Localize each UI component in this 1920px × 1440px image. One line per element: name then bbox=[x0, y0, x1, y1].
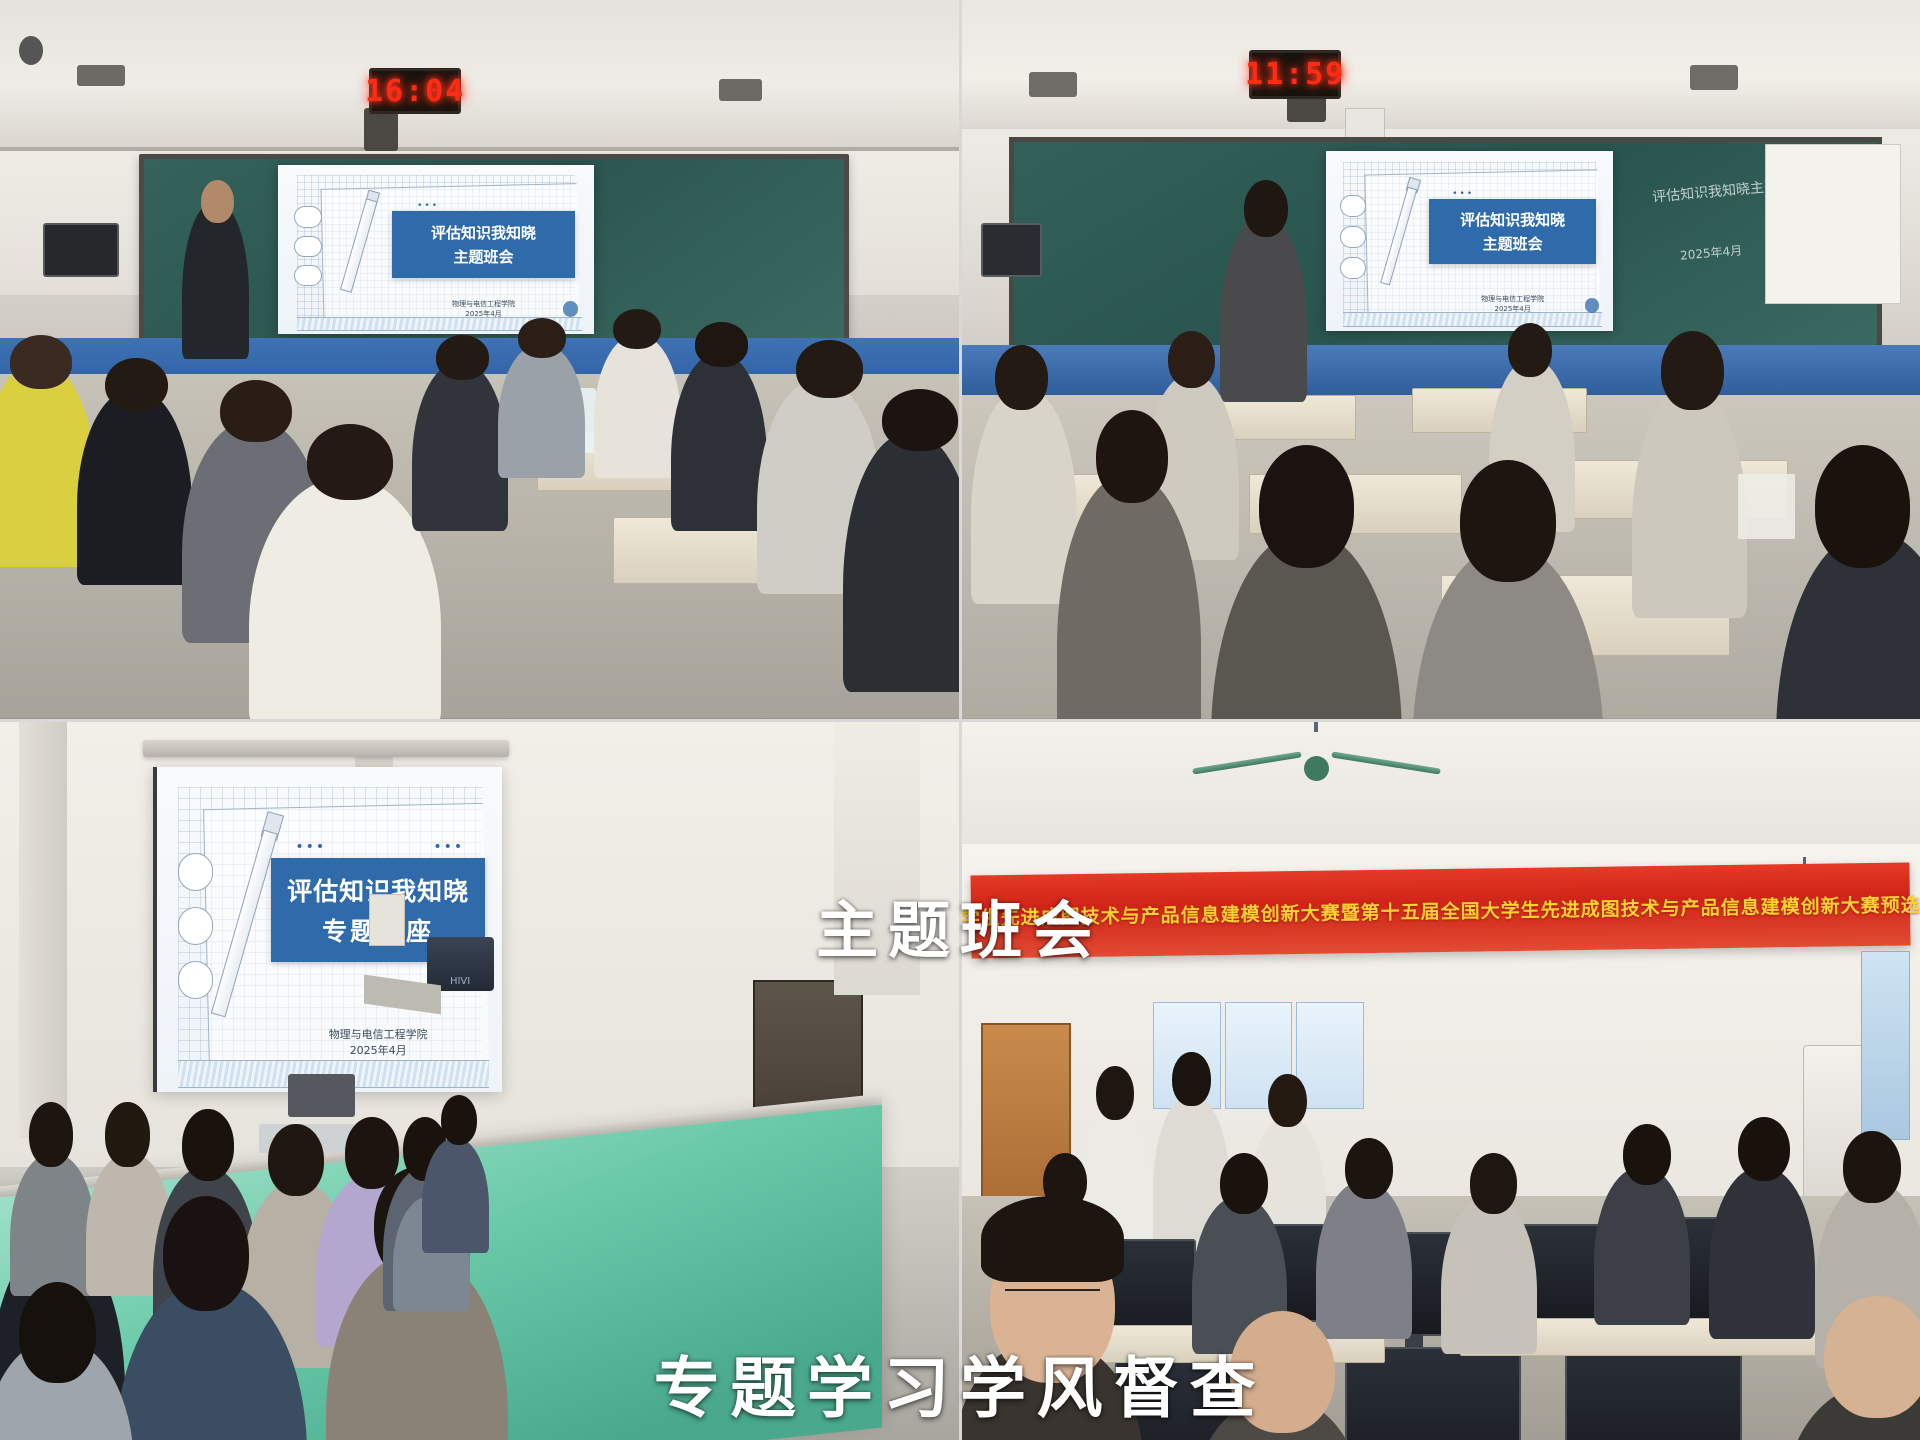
notebook-rings-icon bbox=[1340, 190, 1366, 283]
slide-footer: 物理与电信工程学院 2025年4月 bbox=[271, 1027, 485, 1059]
foreground-student-hair bbox=[981, 1196, 1125, 1282]
ceiling-speaker-left bbox=[77, 65, 125, 87]
panel-classroom-wide: 16:04 ••• 评估知识我知晓 主题班会 物理与电信工程学院 2025年4月 bbox=[0, 0, 959, 719]
notebook-rings-icon bbox=[178, 845, 213, 1007]
slide-footer: 物理与电信工程学院 2025年4月 bbox=[1429, 294, 1596, 314]
ceiling-fan-left bbox=[1192, 729, 1441, 801]
slide-title-line2: 主题班会 bbox=[398, 246, 569, 267]
desk-projector bbox=[288, 1074, 355, 1117]
slide-dots-right: ••• bbox=[433, 839, 464, 855]
wall-control-panel bbox=[981, 223, 1043, 277]
window bbox=[1861, 951, 1911, 1140]
speaker-brand-label: HIVI bbox=[450, 976, 470, 987]
projection-screen-assembly: ••• ••• 评估知识我知晓 专题讲座 物理与电信工程学院 2025年4月 bbox=[153, 754, 498, 1092]
slide-title-box: 评估知识我知晓 主题班会 bbox=[392, 211, 575, 278]
ceiling bbox=[0, 0, 959, 151]
slide-title-line1: 评估知识我知晓 bbox=[1435, 209, 1590, 230]
ceiling bbox=[962, 722, 1920, 844]
panel-computer-lab: 第二届广西大学生先进成图技术与产品信息建模创新大赛暨第十五届全国大学生先进成图技… bbox=[962, 722, 1920, 1440]
wall-control-panel bbox=[43, 223, 119, 277]
projection-screen: ••• 评估知识我知晓 主题班会 物理与电信工程学院 2025年4月 bbox=[1326, 151, 1614, 331]
slide-title-line1: 评估知识我知晓 bbox=[398, 222, 569, 243]
screen-roller bbox=[143, 740, 509, 757]
wall-poster bbox=[1765, 144, 1901, 304]
slide-org: 物理与电信工程学院 bbox=[271, 1027, 485, 1043]
slide-title-line2: 主题班会 bbox=[1435, 233, 1590, 254]
plastic-bag bbox=[1738, 474, 1796, 539]
foreground-student2-head bbox=[1230, 1311, 1335, 1433]
side-wall bbox=[834, 722, 920, 995]
slide-org: 物理与电信工程学院 bbox=[1429, 294, 1596, 304]
competition-banner-text: 第二届广西大学生先进成图技术与产品信息建模创新大赛暨第十五届全国大学生先进成图技… bbox=[962, 888, 1920, 932]
ceiling-speaker-left bbox=[1029, 72, 1077, 97]
photo-collage: 16:04 ••• 评估知识我知晓 主题班会 物理与电信工程学院 2025年4月 bbox=[0, 0, 1920, 1440]
slide-wave-decor bbox=[1343, 312, 1602, 327]
panel-classroom-speaker: 11:59 评估知识我知晓主题班会 2025年4月 ••• 评估知识我知晓 主题… bbox=[962, 0, 1920, 719]
teacher-head bbox=[201, 180, 234, 223]
slide-title-box: 评估知识我知晓 主题班会 bbox=[1429, 199, 1596, 264]
slide-date: 2025年4月 bbox=[271, 1043, 485, 1059]
student-crowd bbox=[0, 273, 959, 718]
projection-screen: ••• ••• 评估知识我知晓 专题讲座 物理与电信工程学院 2025年4月 bbox=[153, 767, 502, 1091]
eyeglasses-icon bbox=[1005, 1289, 1101, 1313]
projector bbox=[364, 108, 398, 151]
ceiling-speaker-right bbox=[719, 79, 762, 101]
panel-meeting-room: ••• ••• 评估知识我知晓 专题讲座 物理与电信工程学院 2025年4月 H… bbox=[0, 722, 959, 1440]
slide-dots: ••• bbox=[1452, 189, 1474, 199]
ceiling bbox=[962, 0, 1920, 129]
led-clock: 16:04 bbox=[369, 68, 461, 114]
security-camera bbox=[19, 36, 43, 65]
speaker-head bbox=[1244, 180, 1288, 237]
wall-column bbox=[19, 722, 67, 1139]
competition-banner: 第二届广西大学生先进成图技术与产品信息建模创新大赛暨第十五届全国大学生先进成图技… bbox=[971, 862, 1911, 958]
slide-dots: ••• bbox=[417, 201, 439, 211]
ceiling-speaker-right bbox=[1690, 65, 1738, 90]
wall-panel bbox=[369, 894, 405, 946]
slide-dots-left: ••• bbox=[295, 839, 326, 855]
slide-logo-icon bbox=[1585, 298, 1599, 312]
wall-speaker: HIVI bbox=[427, 937, 494, 991]
led-clock: 11:59 bbox=[1249, 50, 1341, 99]
